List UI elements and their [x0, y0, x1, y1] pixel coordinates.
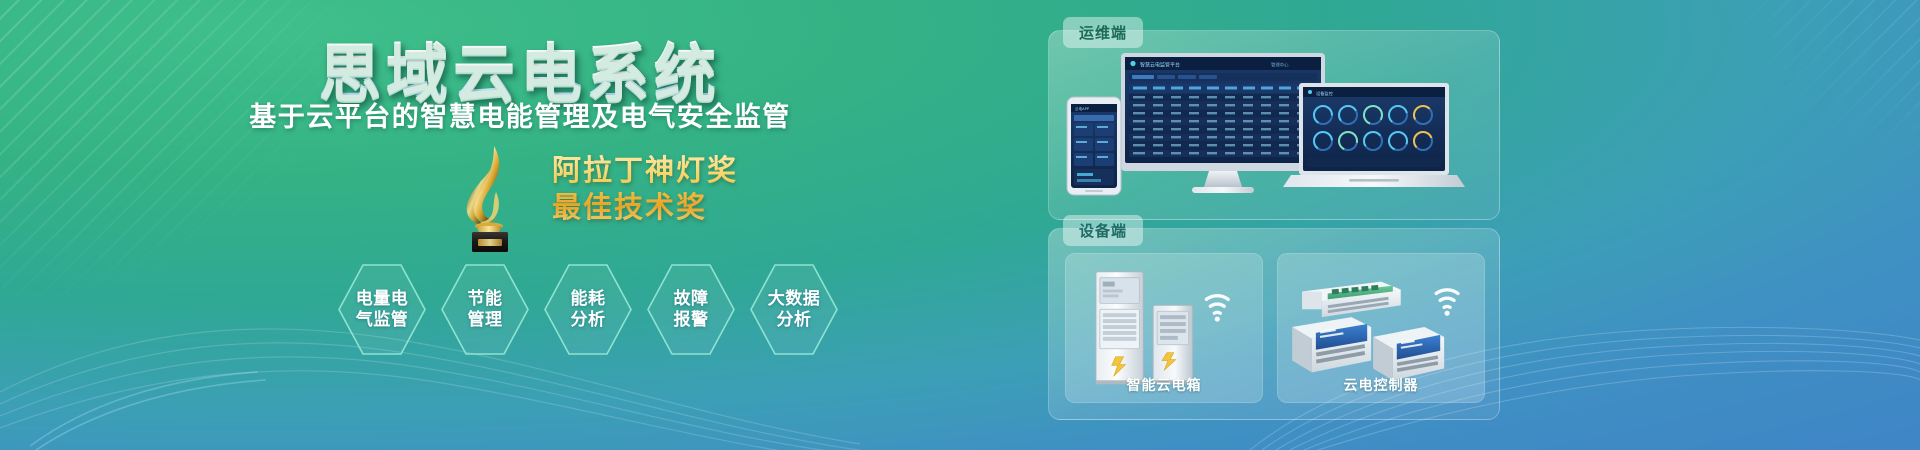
laptop-dashboard: 设备监控 — [1283, 83, 1465, 187]
left-content: 思域云电系统 基于云平台的智慧电能管理及电气安全监管 — [0, 0, 1040, 450]
feature-hexagon[interactable]: 故障 报警 — [645, 262, 737, 357]
promo-banner: 思域云电系统 基于云平台的智慧电能管理及电气安全监管 — [0, 0, 1920, 450]
svg-text:设备监控: 设备监控 — [1316, 90, 1334, 97]
page-subtitle: 基于云平台的智慧电能管理及电气安全监管 — [0, 95, 1040, 134]
svg-text:管理中心: 管理中心 — [1271, 62, 1289, 69]
feature-label: 电量电 气监管 — [356, 289, 409, 330]
feature-hexagon-row: 电量电 气监管 节能 管理 能耗 分析 — [336, 262, 846, 357]
award-line-1: 阿拉丁神灯奖 — [552, 153, 738, 190]
smartphone-dashboard: 云电APP — [1067, 97, 1121, 195]
award-text: 阿拉丁神灯奖 最佳技术奖 — [552, 153, 738, 227]
diagonal-texture-right — [1580, 0, 1920, 260]
feature-hexagon[interactable]: 节能 管理 — [439, 262, 531, 357]
wifi-icon — [1206, 296, 1228, 314]
feature-label: 大数据 分析 — [768, 289, 821, 330]
device-terminal-panel: 设备端 — [1048, 228, 1500, 420]
device-caption: 智能云电箱 — [1066, 375, 1262, 395]
svg-text:智慧云电监管平台: 智慧云电监管平台 — [1140, 62, 1180, 69]
wifi-icon — [1436, 290, 1458, 308]
award-line-2: 最佳技术奖 — [552, 190, 738, 227]
svg-text:云电APP: 云电APP — [1075, 106, 1090, 111]
device-panel-label: 设备端 — [1063, 215, 1143, 246]
ops-terminal-panel: 运维端 — [1048, 30, 1500, 220]
ops-devices-illustration: 智慧云电监管平台 管理中心 — [1049, 31, 1501, 221]
award-block: 阿拉丁神灯奖 最佳技术奖 — [440, 140, 880, 255]
device-caption: 云电控制器 — [1278, 375, 1484, 395]
desktop-monitor-dashboard: 智慧云电监管平台 管理中心 — [1121, 53, 1325, 193]
feature-hexagon[interactable]: 能耗 分析 — [542, 262, 634, 357]
feature-hexagon[interactable]: 大数据 分析 — [748, 262, 840, 357]
device-card-controller[interactable]: 云电控制器 — [1277, 253, 1485, 403]
device-card-cabinet[interactable]: 智能云电箱 — [1065, 253, 1263, 403]
feature-hexagon[interactable]: 电量电 气监管 — [336, 262, 428, 357]
feature-label: 故障 报警 — [674, 289, 709, 330]
feature-label: 能耗 分析 — [571, 289, 606, 330]
feature-label: 节能 管理 — [468, 289, 503, 330]
flame-trophy-icon — [450, 140, 530, 255]
